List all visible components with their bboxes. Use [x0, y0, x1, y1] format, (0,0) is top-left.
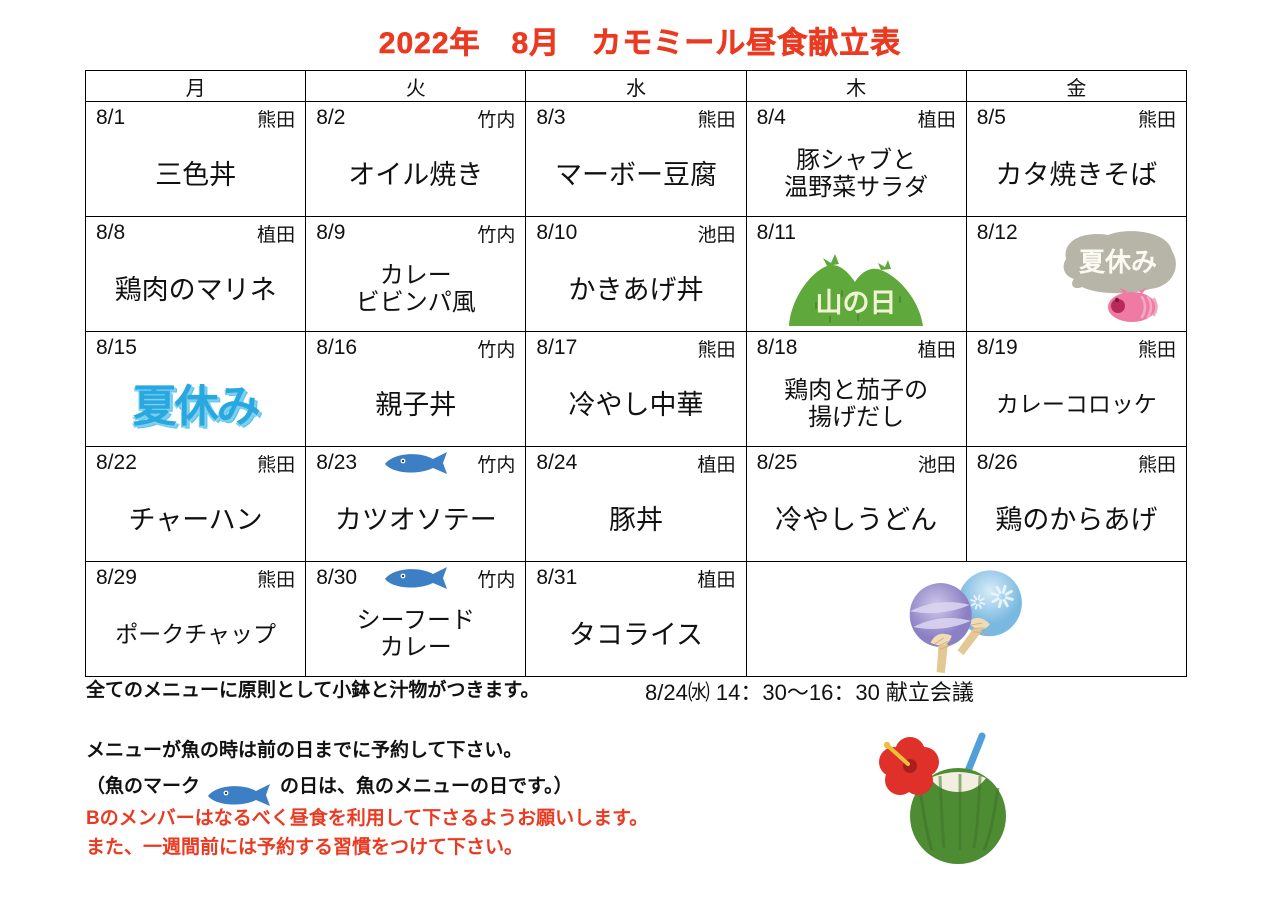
cell-menu: かきあげ丼	[526, 251, 745, 329]
cell-fish-slot	[357, 450, 477, 476]
calendar-cell-8-23[interactable]: 8/23竹内カツオソテー	[306, 447, 526, 562]
cell-staff: 植田	[698, 450, 736, 477]
calendar-cell-8-9[interactable]: 8/9竹内カレービビンパ風	[306, 217, 526, 332]
cell-staff: 植田	[918, 335, 956, 362]
cell-menu: カレービビンパ風	[306, 251, 525, 329]
cell-header: 8/31植田	[526, 562, 745, 592]
cell-date: 8/23	[316, 451, 357, 475]
cell-date: 8/19	[977, 336, 1018, 360]
calendar-cell-8-25[interactable]: 8/25池田冷やしうどん	[746, 447, 966, 562]
note-menu-meeting: 8/24㈬ 14：30〜16：30 献立会議	[645, 675, 974, 707]
fish-icon	[381, 450, 453, 476]
cell-date: 8/31	[536, 566, 577, 590]
calendar-week-row: 8/15夏休み8/16竹内親子丼8/17熊田冷やし中華8/18植田鶏肉と茄子の揚…	[86, 332, 1187, 447]
calendar-cell-8-11[interactable]: 8/11山の日	[746, 217, 966, 332]
cell-staff: 熊田	[257, 450, 295, 477]
cell-date: 8/8	[96, 221, 125, 245]
cell-staff: 竹内	[477, 105, 515, 132]
calendar-cell-8-8[interactable]: 8/8植田鶏肉のマリネ	[86, 217, 306, 332]
calendar-cell-8-29[interactable]: 8/29熊田ポークチャップ	[86, 562, 306, 677]
calendar-cell-8-31[interactable]: 8/31植田タコライス	[526, 562, 746, 677]
summer-break-text-icon: 夏休み	[86, 362, 305, 442]
cell-header: 8/15	[86, 332, 305, 362]
cell-date: 8/4	[757, 106, 786, 130]
note-fish-mark-suffix: の日は、魚のメニューの日です。）	[280, 771, 573, 798]
cell-header: 8/19熊田	[967, 332, 1186, 362]
cell-header: 8/3熊田	[526, 102, 745, 132]
cell-menu: 鶏のからあげ	[967, 481, 1186, 559]
cell-header: 8/26熊田	[967, 447, 1186, 477]
cell-date: 8/2	[316, 106, 345, 130]
cell-menu: オイル焼き	[306, 136, 525, 214]
cell-staff: 植田	[918, 105, 956, 132]
cell-menu: 鶏肉と茄子の揚げだし	[747, 366, 966, 444]
cell-menu: 豚シャブと温野菜サラダ	[747, 136, 966, 214]
calendar-cell-8-18[interactable]: 8/18植田鶏肉と茄子の揚げだし	[746, 332, 966, 447]
cell-date: 8/10	[536, 221, 577, 245]
weekday-header-wed: 水	[526, 71, 746, 102]
svg-text:夏休み: 夏休み	[1079, 247, 1157, 277]
cell-staff: 植田	[257, 220, 295, 247]
fish-icon	[204, 760, 276, 808]
cell-date: 8/9	[316, 221, 345, 245]
cell-date: 8/1	[96, 106, 125, 130]
calendar-cell-8-17[interactable]: 8/17熊田冷やし中華	[526, 332, 746, 447]
cell-menu: シーフードカレー	[306, 596, 525, 674]
cell-header: 8/1熊田	[86, 102, 305, 132]
calendar-cell-8-10[interactable]: 8/10池田かきあげ丼	[526, 217, 746, 332]
cell-staff: 熊田	[1138, 335, 1176, 362]
calendar-cell-8-2[interactable]: 8/2竹内オイル焼き	[306, 102, 526, 217]
calendar-week-row: 8/29熊田ポークチャップ8/30竹内シーフードカレー8/31植田タコライス	[86, 562, 1187, 677]
weekday-header-tue: 火	[306, 71, 526, 102]
cell-header: 8/23竹内	[306, 447, 525, 477]
cell-staff: 竹内	[477, 335, 515, 362]
svg-text:山の日: 山の日	[816, 288, 897, 318]
cell-staff: 熊田	[1138, 105, 1176, 132]
cell-date: 8/5	[977, 106, 1006, 130]
calendar-cell-8-16[interactable]: 8/16竹内親子丼	[306, 332, 526, 447]
calendar-cell-8-26[interactable]: 8/26熊田鶏のからあげ	[966, 447, 1186, 562]
cell-staff: 植田	[698, 565, 736, 592]
cell-menu: 鶏肉のマリネ	[86, 251, 305, 329]
cell-date: 8/15	[96, 336, 137, 360]
summer-break-bubble-icon: 夏休み	[1052, 229, 1182, 325]
calendar-cell-8-1[interactable]: 8/1熊田三色丼	[86, 102, 306, 217]
coconut-drink-icon	[870, 728, 1040, 868]
cell-header: 8/4植田	[747, 102, 966, 132]
calendar-cell-decoration	[746, 562, 1186, 677]
menu-calendar-table: 月 火 水 木 金 8/1熊田三色丼8/2竹内オイル焼き8/3熊田マーボー豆腐8…	[85, 70, 1187, 677]
cell-staff: 竹内	[477, 450, 515, 477]
weekday-header-thu: 木	[746, 71, 966, 102]
cell-menu: カレーコロッケ	[967, 366, 1186, 444]
cell-header: 8/5熊田	[967, 102, 1186, 132]
cell-header: 8/30竹内	[306, 562, 525, 592]
cell-fish-slot	[357, 565, 477, 591]
cell-header: 8/9竹内	[306, 217, 525, 247]
cell-menu: 三色丼	[86, 136, 305, 214]
cell-header: 8/29熊田	[86, 562, 305, 592]
calendar-cell-8-19[interactable]: 8/19熊田カレーコロッケ	[966, 332, 1186, 447]
cell-header: 8/10池田	[526, 217, 745, 247]
weekday-header-fri: 金	[966, 71, 1186, 102]
cell-date: 8/24	[536, 451, 577, 475]
fish-icon	[381, 565, 453, 591]
cell-date: 8/29	[96, 566, 137, 590]
cell-staff: 池田	[698, 220, 736, 247]
calendar-week-row: 8/8植田鶏肉のマリネ8/9竹内カレービビンパ風8/10池田かきあげ丼8/11山…	[86, 217, 1187, 332]
calendar-cell-8-15[interactable]: 8/15夏休み	[86, 332, 306, 447]
weekday-header-mon: 月	[86, 71, 306, 102]
cell-staff: 熊田	[1138, 450, 1176, 477]
calendar-cell-8-12[interactable]: 8/12夏休み	[966, 217, 1186, 332]
note-fish-mark-prefix: （魚のマーク	[86, 771, 200, 798]
calendar-week-row: 8/1熊田三色丼8/2竹内オイル焼き8/3熊田マーボー豆腐8/4植田豚シャブと温…	[86, 102, 1187, 217]
cell-date: 8/25	[757, 451, 798, 475]
cell-staff: 熊田	[257, 565, 295, 592]
cell-menu: タコライス	[526, 596, 745, 674]
cell-staff: 熊田	[257, 105, 295, 132]
cell-header: 8/18植田	[747, 332, 966, 362]
cell-date: 8/17	[536, 336, 577, 360]
cell-date: 8/30	[316, 566, 357, 590]
cell-header: 8/8植田	[86, 217, 305, 247]
uchiwa-fans-icon	[747, 562, 1186, 676]
cell-menu: 親子丼	[306, 366, 525, 444]
cell-menu: マーボー豆腐	[526, 136, 745, 214]
cell-menu: 冷やしうどん	[747, 481, 966, 559]
note-fish-reservation: メニューが魚の時は前の日までに予約して下さい。	[86, 735, 522, 762]
calendar-cell-8-30[interactable]: 8/30竹内シーフードカレー	[306, 562, 526, 677]
note-side-dish: 全てのメニューに原則として小鉢と汁物がつきます。	[86, 675, 540, 702]
cell-staff: 竹内	[477, 220, 515, 247]
cell-staff: 池田	[918, 450, 956, 477]
cell-menu: カツオソテー	[306, 481, 525, 559]
cell-header: 8/17熊田	[526, 332, 745, 362]
cell-date: 8/3	[536, 106, 565, 130]
calendar-week-row: 8/22熊田チャーハン8/23竹内カツオソテー8/24植田豚丼8/25池田冷やし…	[86, 447, 1187, 562]
calendar-body: 8/1熊田三色丼8/2竹内オイル焼き8/3熊田マーボー豆腐8/4植田豚シャブと温…	[86, 102, 1187, 677]
calendar-cell-8-22[interactable]: 8/22熊田チャーハン	[86, 447, 306, 562]
cell-staff: 竹内	[477, 565, 515, 592]
cell-menu: 冷やし中華	[526, 366, 745, 444]
calendar-cell-8-4[interactable]: 8/4植田豚シャブと温野菜サラダ	[746, 102, 966, 217]
cell-date: 8/11	[757, 221, 796, 245]
calendar-cell-8-5[interactable]: 8/5熊田カタ焼きそば	[966, 102, 1186, 217]
page-title: 2022年 8月 カモミール昼食献立表	[0, 18, 1280, 62]
mountain-day-icon: 山の日	[747, 245, 966, 331]
calendar-cell-8-24[interactable]: 8/24植田豚丼	[526, 447, 746, 562]
cell-menu: 豚丼	[526, 481, 745, 559]
cell-header: 8/11	[747, 217, 966, 247]
cell-header: 8/16竹内	[306, 332, 525, 362]
cell-menu: チャーハン	[86, 481, 305, 559]
weekday-header-row: 月 火 水 木 金	[86, 71, 1187, 102]
cell-header: 8/2竹内	[306, 102, 525, 132]
cell-date: 8/16	[316, 336, 357, 360]
cell-date: 8/12	[977, 221, 1018, 245]
cell-date: 8/22	[96, 451, 137, 475]
cell-date: 8/18	[757, 336, 798, 360]
cell-header: 8/24植田	[526, 447, 745, 477]
calendar-cell-8-3[interactable]: 8/3熊田マーボー豆腐	[526, 102, 746, 217]
cell-header: 8/25池田	[747, 447, 966, 477]
cell-staff: 熊田	[698, 105, 736, 132]
cell-menu: カタ焼きそば	[967, 136, 1186, 214]
cell-menu: ポークチャップ	[86, 596, 305, 674]
note-red-request: Bのメンバーはなるべく昼食を利用して下さるようお願いします。 また、一週間前には…	[86, 805, 648, 862]
cell-date: 8/26	[977, 451, 1018, 475]
cell-header: 8/22熊田	[86, 447, 305, 477]
cell-staff: 熊田	[698, 335, 736, 362]
note-fish-mark-legend: （魚のマーク の日は、魚のメニューの日です。）	[86, 760, 573, 808]
